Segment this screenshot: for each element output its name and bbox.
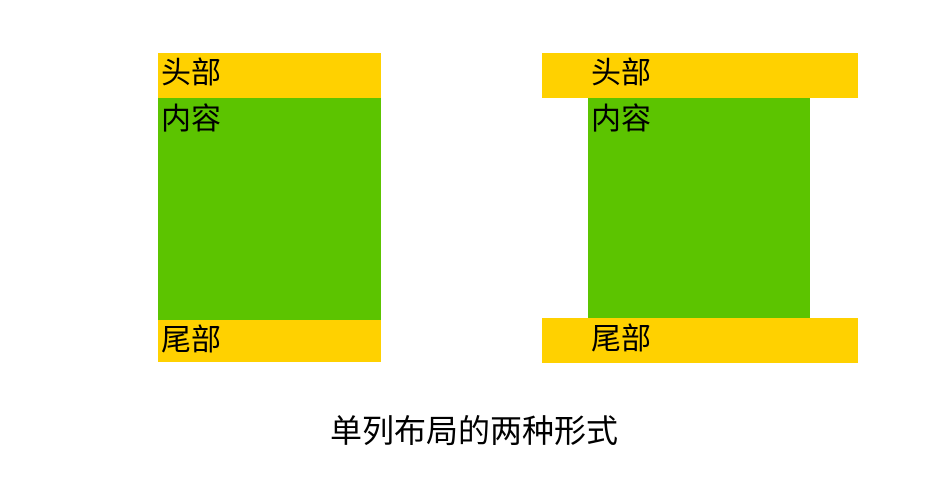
diagram-b-footer-block: 尾部 [542, 318, 858, 363]
diagram-b-content-block: 内容 [588, 98, 810, 318]
diagram-b-content-label: 内容 [591, 105, 810, 135]
diagram-b-footer-label: 尾部 [591, 325, 858, 355]
diagram-single-column-wide-header-footer: 头部 内容 尾部 [0, 0, 948, 400]
diagram-b-header-block: 头部 [542, 53, 858, 98]
diagram-b-header-label: 头部 [591, 59, 858, 89]
figure-canvas: 头部 内容 尾部 头部 内容 尾部 单列布局的两种形式 [0, 0, 948, 488]
figure-caption: 单列布局的两种形式 [0, 415, 948, 447]
